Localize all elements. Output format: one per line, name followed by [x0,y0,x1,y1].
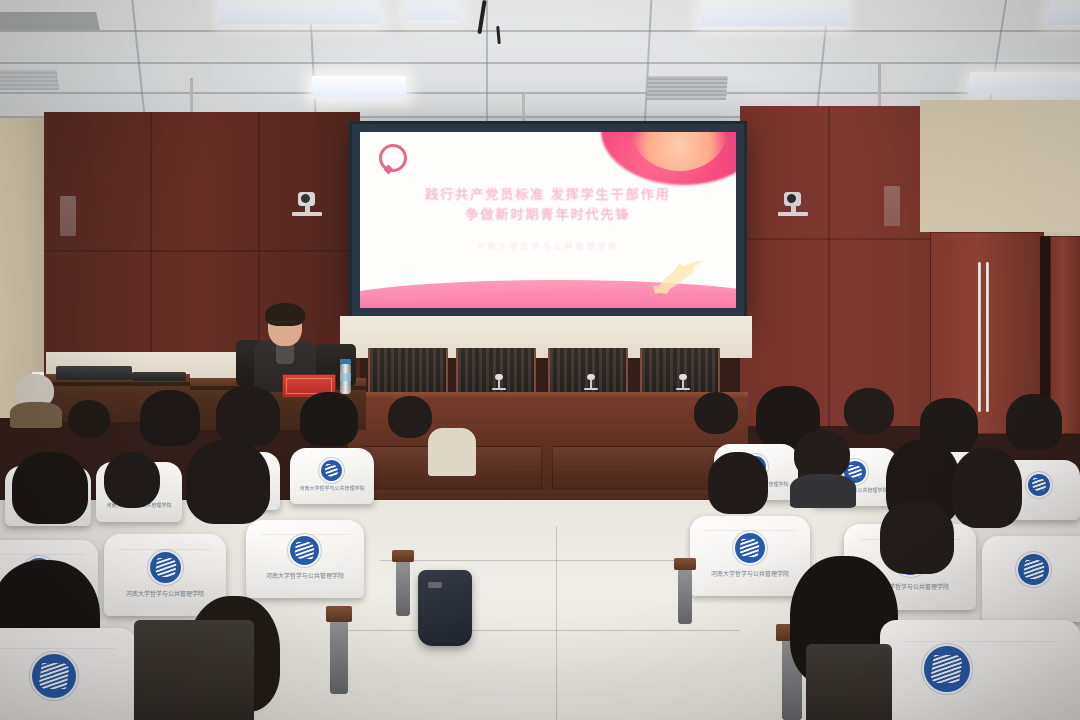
university-logo [1028,474,1050,496]
projection-screen: 践行共产党员标准 发挥学生干部作用 争做新时期青年时代先锋 河南大学哲学与公共管… [360,132,736,308]
seat-armrest [396,560,410,616]
audience-person [880,500,954,574]
person-shoulders [10,402,62,428]
slide-title: 践行共产党员标准 发挥学生干部作用 争做新时期青年时代先锋 [360,185,736,225]
wall-seam [44,250,360,252]
projection-screen-frame: 践行共产党员标准 发挥学生干部作用 争做新时期青年时代先锋 河南大学哲学与公共管… [352,124,744,316]
seat-logo-text: 河南大学哲学与公共管理学院 [246,571,364,580]
slide-wave-graphic [360,227,736,308]
ceiling-air-vent [0,70,59,90]
presentation-slide: 践行共产党员标准 发挥学生干部作用 争做新时期青年时代先锋 河南大学哲学与公共管… [360,132,736,308]
university-logo [1018,554,1049,585]
seat-fold [704,530,795,531]
person-hair [708,452,768,514]
microphone [578,372,604,390]
person-head [694,392,738,434]
person-head [388,396,432,438]
ceiling-light-panel [406,0,460,20]
audience-person [104,452,160,510]
seat-cover [880,620,1080,720]
seat-with-cover[interactable] [982,536,1080,622]
seat-armrest-wood [392,550,414,562]
slide-title-line-1: 践行共产党员标准 发挥学生干部作用 [360,185,736,205]
seat-with-cover[interactable] [880,620,1080,720]
laptop-device [132,372,186,381]
photo-scene: 践行共产党员标准 发挥学生干部作用 争做新时期青年时代先锋 河南大学哲学与公共管… [0,0,1080,720]
person-hair [186,440,270,524]
ceiling-light-panel [700,0,850,26]
person-hair [1006,394,1062,450]
speaker-glasses [271,321,299,330]
person-hair [952,448,1022,528]
person-head [104,452,160,508]
laptop-device [56,366,132,380]
person-hair [140,390,200,446]
hammer-and-sickle-emblem [645,256,713,300]
audience-person [708,452,768,514]
university-logo [924,646,970,692]
audience-person [216,386,280,446]
seat-with-cover[interactable]: 河南大学哲学与公共管理学院 [290,448,374,504]
seat-fold [260,534,350,535]
ceiling-light-panel [967,72,1080,94]
microphone [486,372,512,390]
audience-person [12,452,88,524]
seat-armrest [678,568,692,624]
seat-with-cover[interactable] [0,628,136,720]
floor-tile-line [340,630,740,631]
ceiling-light-panel [1047,0,1080,25]
round-red-slide-logo [379,144,407,172]
university-logo [321,460,342,481]
seat-armrest [330,620,348,694]
ceiling-tile-open [0,12,100,30]
seat-back-exposed [806,644,892,720]
ptz-camera-left [292,190,322,216]
person-head [844,388,894,434]
person-shoulders [790,474,856,508]
seat-armrest-wood [326,606,352,622]
person-hair [300,392,358,446]
audience-person [952,448,1022,528]
seat-fold [119,549,212,550]
seat-armrest-wood [674,558,696,570]
person-hair [12,452,88,524]
person-shoulders [428,428,476,476]
wall-speaker-right [884,186,900,226]
audience-person [186,440,270,524]
audience-person [790,430,856,504]
floor-tile-line [380,560,680,561]
ptz-camera-right [778,190,808,216]
seat-back-exposed [134,620,254,720]
seat-fold [0,554,84,555]
ceiling-air-vent [646,76,728,100]
seat-logo-text: 河南大学哲学与公共管理学院 [290,485,374,492]
door-handle[interactable] [978,262,981,412]
audience-person [428,420,476,476]
door-handle[interactable] [986,262,989,412]
university-logo [290,536,319,565]
university-logo [32,654,76,698]
audience-person [140,390,200,446]
water-bottle [340,364,351,394]
person-head [68,400,110,438]
person-hair [216,386,280,446]
audience-person [62,400,116,450]
seat-fold [0,648,115,649]
university-logo [150,552,181,583]
university-logo [735,533,765,563]
microphone [670,372,696,390]
person-head [794,430,850,480]
seat-with-cover[interactable]: 河南大学哲学与公共管理学院 [246,520,364,598]
audience-person [1006,394,1062,450]
person-hair [880,500,954,574]
black-backpack [418,570,472,646]
audience-person [690,392,744,444]
wall-speaker-left [60,196,76,236]
podium-bay [368,348,448,394]
seat-fold [904,641,1056,642]
audience-person [10,374,62,422]
ceiling-light-panel [218,0,381,24]
wall-seam [828,106,830,426]
ceiling-light-panel [312,76,407,98]
floor-tile-line [556,526,557,720]
slide-title-line-2: 争做新时期青年时代先锋 [360,205,736,225]
wall-top-band [920,100,1080,232]
audience-person [300,392,358,446]
